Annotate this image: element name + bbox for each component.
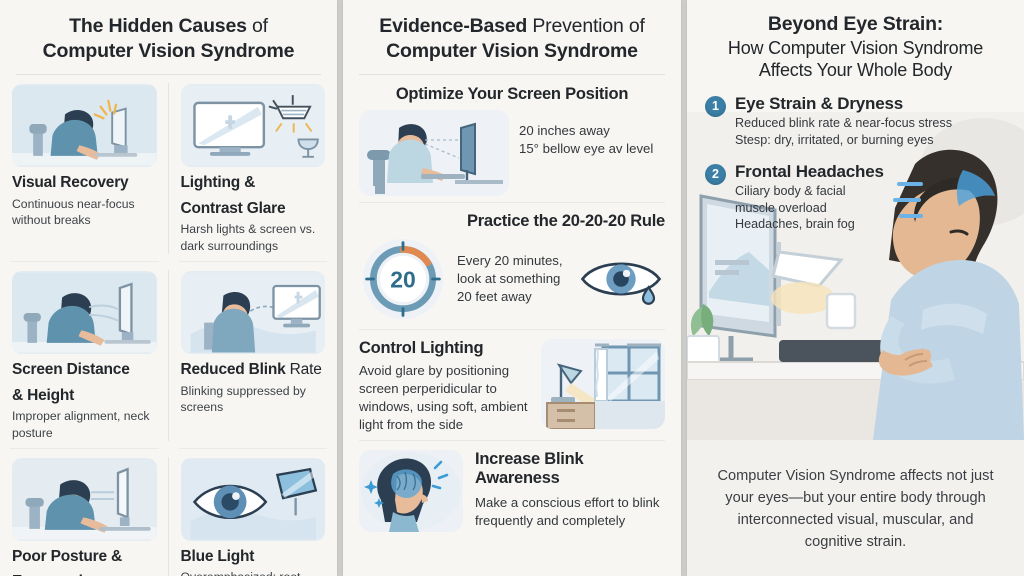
cause-card-reduced-blink-rate[interactable]: Reduced Blink Rate Blinking suppressed b… (169, 262, 338, 449)
cause-title: Visual Recovery (12, 174, 157, 193)
cause-title: Screen Distance (12, 361, 157, 380)
cause-subtitle: Improper alignment, neck posture (12, 408, 157, 441)
mid-title-line1-bold: Evidence-Based (379, 15, 527, 37)
section-heading: Practice the 20-20-20 Rule (359, 212, 665, 231)
cause-subtitle: Overemphasized; root caus > Reflectrs & … (181, 569, 326, 576)
section-body: Make a conscious effort to blink frequen… (475, 494, 665, 530)
section-heading: Optimize Your Screen Position (359, 85, 665, 104)
cause-card-lighting-contrast-glare[interactable]: Lighting & Contrast Glare Harsh lights &… (169, 75, 338, 262)
panel-evidence-based-prevention: Evidence-Based Prevention of Computer Vi… (343, 0, 681, 576)
monitor-with-lamp-and-glare-illustration (181, 84, 326, 167)
right-title-line2: How Computer Vision Syndrome (703, 37, 1008, 60)
effect-title: Eye Strain & Dryness (735, 94, 952, 114)
cause-subtitle: Harsh lights & screen vs. dark surroundi… (181, 221, 326, 254)
right-title-line3: Affects Your Whole Body (703, 59, 1008, 82)
section-body: Every 20 minutes, look at something 20 f… (457, 252, 567, 306)
cause-title: Reduced Blink Rate (181, 361, 326, 380)
left-title-line1-light: of (247, 15, 268, 37)
section-body: Avoid glare by positioning screen perper… (359, 362, 529, 434)
person-leaning-toward-screen-illustration (12, 271, 157, 354)
list-number-badge: 2 (705, 164, 726, 185)
left-panel-title: The Hidden Causes of Computer Vision Syn… (0, 0, 337, 63)
cause-card-screen-distance-height[interactable]: Screen Distance & Height Improper alignm… (0, 262, 169, 449)
left-title-line1-bold: The Hidden Causes (69, 15, 247, 37)
left-title-line2: Computer Vision Syndrome (16, 39, 321, 64)
timer-value: 20 (390, 267, 416, 293)
person-slumped-at-monitor-illustration (12, 84, 157, 167)
effect-subtitle: Reduced blink rate & near-focus stress S… (735, 115, 952, 149)
list-number-badge: 1 (705, 96, 726, 117)
mid-title-line1-light: Prevention of (527, 15, 645, 37)
cause-title: Blue Light (181, 548, 326, 567)
timer-dial-icon: 20 (359, 235, 447, 323)
seated-posture-at-monitor-illustration (359, 110, 509, 196)
effect-title: Frontal Headaches (735, 162, 884, 182)
cause-title-line2: Contrast Glare (181, 200, 326, 219)
cause-card-blue-light[interactable]: Blue Light Overemphasized; root caus > R… (169, 449, 338, 576)
section-heading: Control Lighting (359, 339, 529, 358)
cause-title: Lighting & (181, 174, 326, 193)
prevention-section-20-20-20-rule[interactable]: Practice the 20-20-20 Rule 20 Every 20 m… (343, 202, 681, 329)
cause-title: Poor Posture & (12, 548, 157, 567)
prevention-section-screen-position[interactable]: Optimize Your Screen Position (343, 75, 681, 202)
right-panel-title: Beyond Eye Strain: How Computer Vision S… (687, 0, 1024, 82)
eye-with-teardrop-icon (577, 250, 665, 308)
cause-card-visual-recovery[interactable]: Visual Recovery Continuous near-focus wi… (0, 75, 169, 262)
person-staring-at-monitor-illustration (181, 271, 326, 354)
cause-card-poor-posture-ergonomics[interactable]: Poor Posture & Ergonomics (0, 449, 169, 576)
mid-panel-title: Evidence-Based Prevention of Computer Vi… (343, 0, 681, 63)
panel-beyond-eye-strain: Beyond Eye Strain: How Computer Vision S… (687, 0, 1024, 576)
effect-subtitle: Ciliary body & facial muscle overload He… (735, 183, 884, 234)
head-profile-with-brain-illustration (359, 450, 463, 532)
desk-lamp-and-window-illustration (541, 339, 665, 429)
cause-title-line2: & Height (12, 387, 157, 406)
infographic-board: The Hidden Causes of Computer Vision Syn… (0, 0, 1024, 576)
right-title-line1: Beyond Eye Strain: (703, 12, 1008, 37)
section-body: 20 inches away 15° bellow eye av level (519, 110, 653, 158)
section-heading: Increase Blink Awareness (475, 450, 665, 488)
cause-subtitle: Continuous near-focus without breaks (12, 196, 157, 229)
mid-title-line2: Computer Vision Syndrome (359, 39, 665, 64)
prevention-section-control-lighting[interactable]: Control Lighting Avoid glare by position… (343, 329, 681, 440)
cause-subtitle: Blinking suppressed by screens (181, 383, 326, 416)
effect-item-frontal-headaches[interactable]: 2 Frontal Headaches Ciliary body & facia… (705, 162, 1006, 234)
panel-hidden-causes: The Hidden Causes of Computer Vision Syn… (0, 0, 337, 576)
eye-with-blue-screen-illustration (181, 458, 326, 541)
effect-item-eye-strain[interactable]: 1 Eye Strain & Dryness Reduced blink rat… (705, 94, 1006, 149)
prevention-section-blink-awareness[interactable]: Increase Blink Awareness Make a consciou… (343, 440, 681, 538)
hunched-posture-at-desk-illustration (12, 458, 157, 541)
causes-grid: Visual Recovery Continuous near-focus wi… (0, 75, 337, 576)
right-panel-caption: Computer Vision Syndrome affects not jus… (687, 440, 1024, 576)
